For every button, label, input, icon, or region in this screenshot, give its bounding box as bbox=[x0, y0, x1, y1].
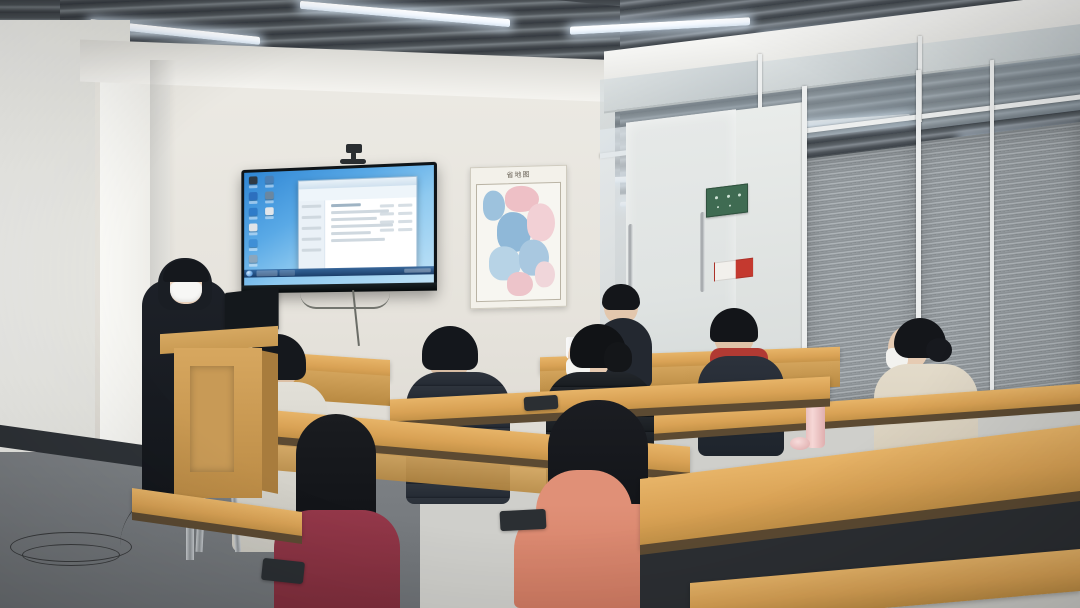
desktop-icon-7[interactable] bbox=[249, 223, 258, 235]
floor-cable-loop-2 bbox=[22, 544, 120, 566]
desktop-icon-2[interactable] bbox=[265, 176, 274, 188]
podium-shelf bbox=[190, 366, 234, 472]
explorer-file-list[interactable] bbox=[325, 197, 416, 268]
desktop-icon-5[interactable] bbox=[249, 208, 258, 220]
taskbar-item-2[interactable] bbox=[279, 270, 294, 276]
door-handle-left[interactable] bbox=[628, 224, 633, 295]
smartphone-on-desk-3[interactable] bbox=[524, 395, 559, 411]
smartphone-on-desk-1[interactable] bbox=[261, 558, 305, 584]
taskbar-item-1[interactable] bbox=[257, 270, 278, 276]
wall-mounted-tv bbox=[241, 162, 437, 294]
podium-side bbox=[260, 350, 278, 494]
explorer-nav-pane[interactable] bbox=[299, 200, 325, 268]
desktop-icon-1[interactable] bbox=[249, 176, 258, 188]
map-region-4 bbox=[527, 203, 555, 242]
thermos-lid[interactable] bbox=[790, 437, 810, 450]
presenter-face-mask bbox=[170, 282, 202, 302]
desktop-icon-8[interactable] bbox=[249, 239, 258, 251]
desktop-icon-3[interactable] bbox=[249, 192, 258, 204]
map-region-8 bbox=[535, 261, 555, 288]
map-title: 省地图 bbox=[471, 169, 566, 182]
desktop-icon-6[interactable] bbox=[265, 207, 274, 219]
tv-cable-loop bbox=[300, 293, 390, 309]
tv-screen-content bbox=[244, 165, 434, 286]
smartphone-on-desk-2[interactable] bbox=[500, 509, 547, 531]
tv-taskbar[interactable] bbox=[244, 266, 434, 278]
green-wall-sign bbox=[706, 183, 748, 217]
desktop-icon-9[interactable] bbox=[249, 255, 258, 267]
attendee-black-vest-ponytail bbox=[604, 342, 632, 372]
partition-mullion-3 bbox=[990, 60, 994, 390]
door-handle-right[interactable] bbox=[700, 212, 705, 293]
conference-room-photo: 省地图 bbox=[0, 0, 1080, 608]
map-body bbox=[476, 182, 561, 302]
desktop-icon-4[interactable] bbox=[265, 191, 274, 203]
video-conference-camera bbox=[338, 144, 368, 166]
start-button-icon[interactable] bbox=[246, 271, 253, 277]
map-region-7 bbox=[507, 272, 533, 297]
presenter-hair bbox=[163, 260, 209, 282]
attendee-beige-hair-bun bbox=[926, 338, 952, 362]
file-explorer-window[interactable] bbox=[298, 176, 418, 270]
provincial-map-poster: 省地图 bbox=[470, 165, 567, 310]
taskbar-tray[interactable] bbox=[404, 268, 431, 273]
